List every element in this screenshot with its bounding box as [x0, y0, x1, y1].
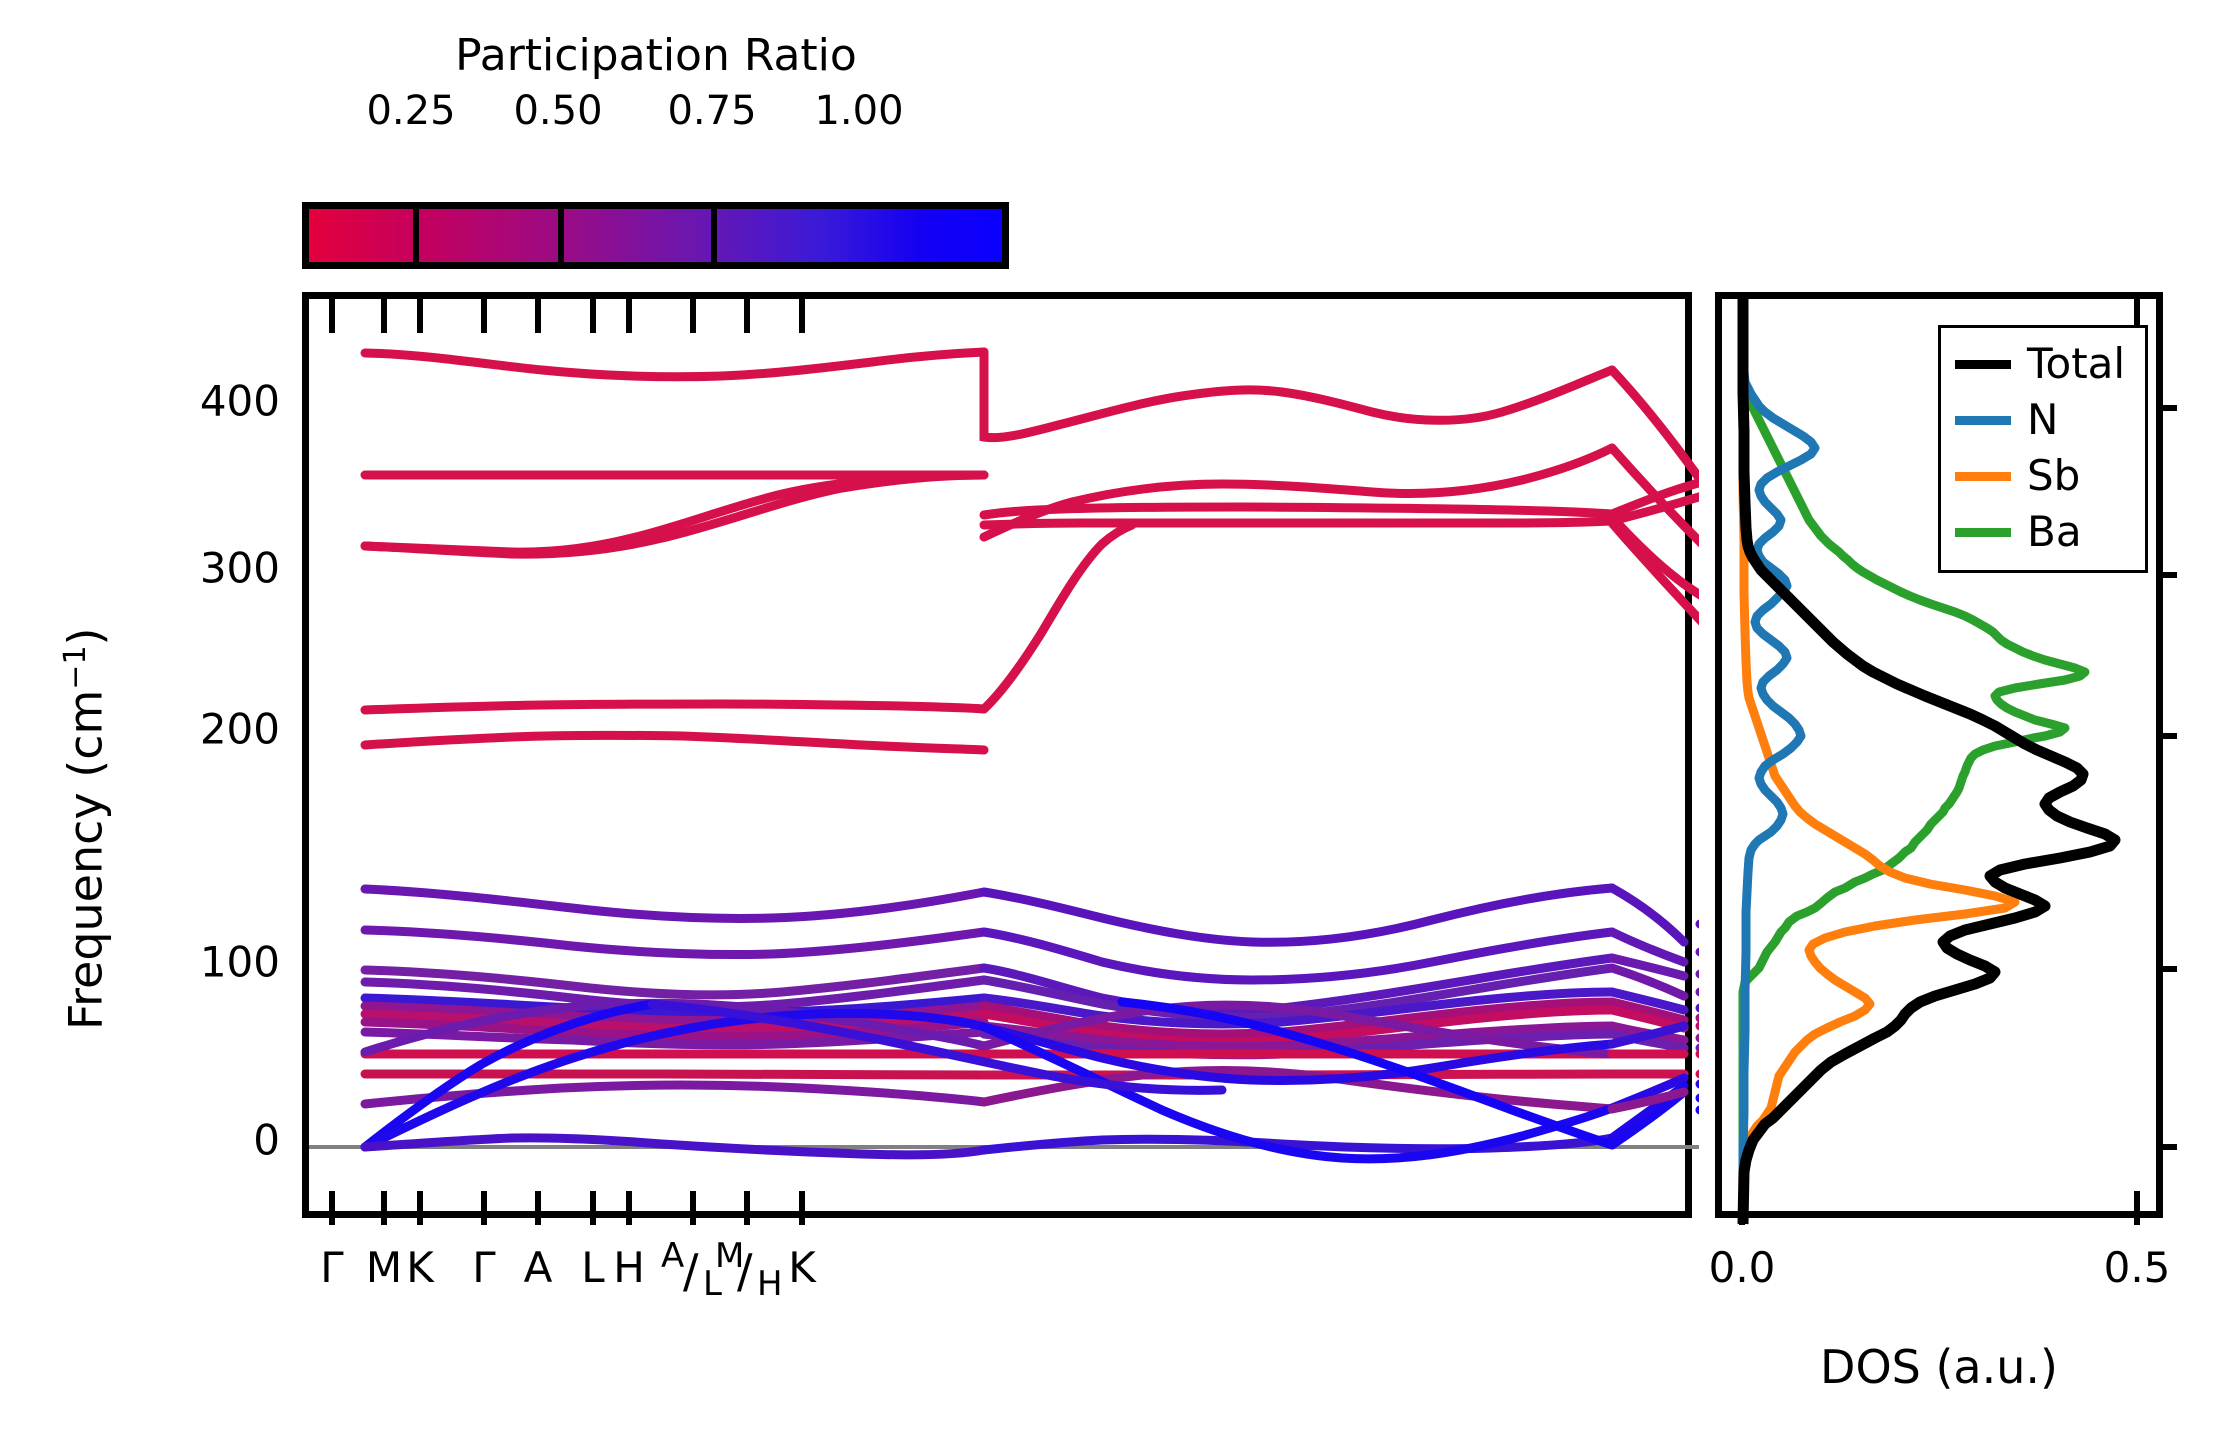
legend-swatch-ba — [1955, 528, 2011, 537]
colorbar-title: Participation Ratio — [306, 30, 1006, 81]
colorbar-tick-2: 0.75 — [667, 88, 756, 134]
dos-xtick-0: 0.0 — [1709, 1243, 1776, 1292]
band-xtick-L: L — [581, 1243, 604, 1292]
band-xtick-A: A — [524, 1243, 553, 1292]
fraction-slash-2: / — [737, 1244, 753, 1298]
phonon-figure: Participation Ratio 0.25 0.50 0.75 1.00 … — [0, 0, 2230, 1455]
band-xtick-M-over-H: M / H — [715, 1240, 779, 1324]
colorbar-tick-0: 0.25 — [366, 88, 455, 134]
legend-item-total: Total — [1955, 336, 2131, 392]
band-structure-axes — [302, 292, 1692, 1218]
band-ytick-200: 200 — [120, 705, 280, 754]
legend-label-sb: Sb — [2027, 455, 2080, 497]
band-xtick-M: M — [366, 1243, 402, 1292]
legend-swatch-total — [1955, 360, 2011, 369]
legend-item-sb: Sb — [1955, 448, 2131, 504]
dos-legend: Total N Sb Ba — [1938, 325, 2148, 573]
fraction-slash: / — [683, 1244, 699, 1298]
fraction-denominator-h: H — [757, 1264, 783, 1304]
colorbar-tick-labels: 0.25 0.50 0.75 1.00 — [306, 88, 1006, 138]
legend-item-n: N — [1955, 392, 2131, 448]
dos-xlabel: DOS (a.u.) — [1820, 1340, 2058, 1394]
colorbar-tickmark-2 — [711, 209, 717, 262]
band-xtick-K: K — [406, 1243, 434, 1292]
legend-swatch-n — [1955, 416, 2011, 425]
colorbar — [302, 202, 1009, 269]
band-ylabel: Frequency (cm−1) — [58, 628, 112, 1031]
high-frequency-bands — [365, 352, 1706, 750]
band-xtick-gamma-2: Γ — [472, 1243, 495, 1292]
colorbar-tickmark-1 — [558, 209, 564, 262]
colorbar-tick-1: 0.50 — [513, 88, 602, 134]
band-xtick-K-2: K — [788, 1243, 816, 1292]
fraction-m-over-h: M / H — [715, 1240, 779, 1314]
band-ytick-0: 0 — [120, 1116, 280, 1165]
band-ytick-300: 300 — [120, 544, 280, 593]
legend-label-total: Total — [2027, 343, 2125, 385]
legend-swatch-sb — [1955, 472, 2011, 481]
band-xtick-H: H — [613, 1243, 645, 1292]
colorbar-tickmark-0 — [413, 209, 419, 262]
dos-axes: Total N Sb Ba — [1715, 292, 2163, 1218]
low-frequency-bands — [365, 888, 1706, 1176]
band-xtick-gamma-1: Γ — [320, 1243, 343, 1292]
fraction-numerator-a: A — [661, 1236, 684, 1276]
dos-xtick-1: 0.5 — [2104, 1243, 2171, 1292]
band-ytick-400: 400 — [120, 377, 280, 426]
legend-item-ba: Ba — [1955, 504, 2131, 560]
colorbar-tick-3: 1.00 — [814, 88, 903, 134]
legend-label-n: N — [2027, 399, 2058, 441]
band-ytick-100: 100 — [120, 938, 280, 987]
legend-label-ba: Ba — [2027, 511, 2082, 553]
